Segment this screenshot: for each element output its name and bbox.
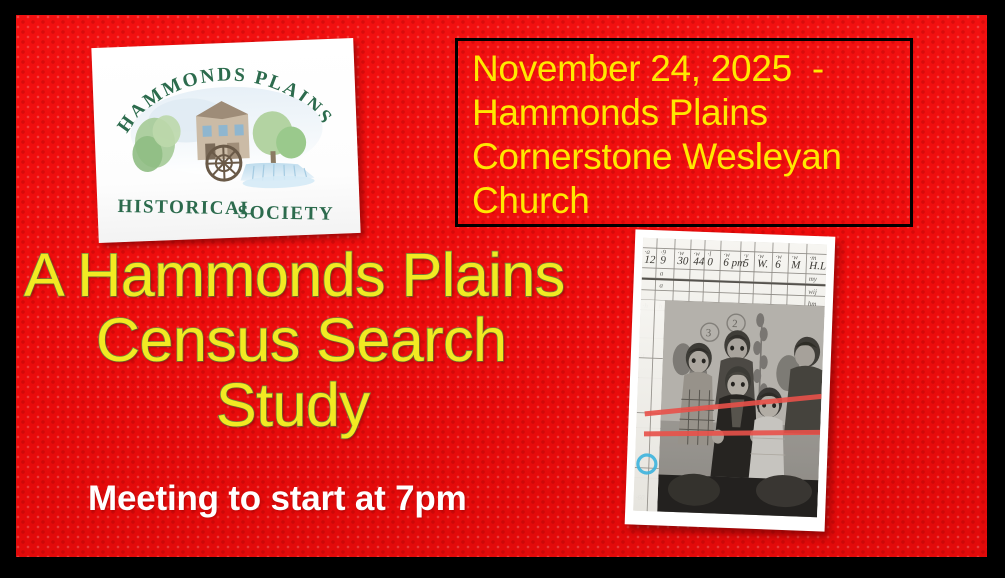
historical-society-logo-card: HAMMONDS PLAINS [91,38,360,243]
svg-text:·m: ·m [809,254,816,262]
logo-inner: HAMMONDS PLAINS [91,38,360,243]
census-photo-card: 12 9 30 44 0 6 pm 5 W. 6 M H.L ·a·9·w [625,229,836,531]
event-info-box: November 24, 2025 - Hammonds Plains Corn… [455,38,913,227]
logo-society-label: SOCIETY [237,202,334,225]
census-photo-inner: 12 9 30 44 0 6 pm 5 W. 6 M H.L ·a·9·w [633,238,827,518]
svg-text:·w: ·w [791,253,798,261]
event-info-text: November 24, 2025 - Hammonds Plains Corn… [472,47,900,223]
svg-text:wij: wij [808,288,817,296]
census-record-sheet: 12 9 30 44 0 6 pm 5 W. 6 M H.L ·a·9·w [633,238,827,518]
svg-text:·9: ·9 [661,248,667,256]
page-title-line-1: A Hammonds Plains [16,243,636,308]
slide-frame: HAMMONDS PLAINS [0,0,1005,578]
svg-text:·a: ·a [645,248,651,256]
svg-text:·w: ·w [775,253,782,261]
poster-background: HAMMONDS PLAINS [16,15,987,557]
page-title-line-3: Study [16,373,636,438]
watermill-art-svg [125,81,329,197]
svg-text:·l: ·l [707,250,711,258]
family-photograph: 3 2 [657,301,825,518]
svg-text:·w: ·w [723,251,730,259]
logo-bottom-text: HISTORICAL SOCIETY [97,179,361,237]
svg-text:·w: ·w [677,249,684,257]
svg-text:my: my [809,275,818,283]
page-title: A Hammonds Plains Census Search Study [16,243,636,438]
meeting-time-note: Meeting to start at 7pm [88,479,467,519]
logo-historical-label: HISTORICAL [117,196,254,219]
watermill-illustration [125,81,329,197]
svg-text:·w: ·w [757,252,764,260]
page-title-line-2: Census Search [16,308,636,373]
svg-text:·w: ·w [693,250,700,258]
